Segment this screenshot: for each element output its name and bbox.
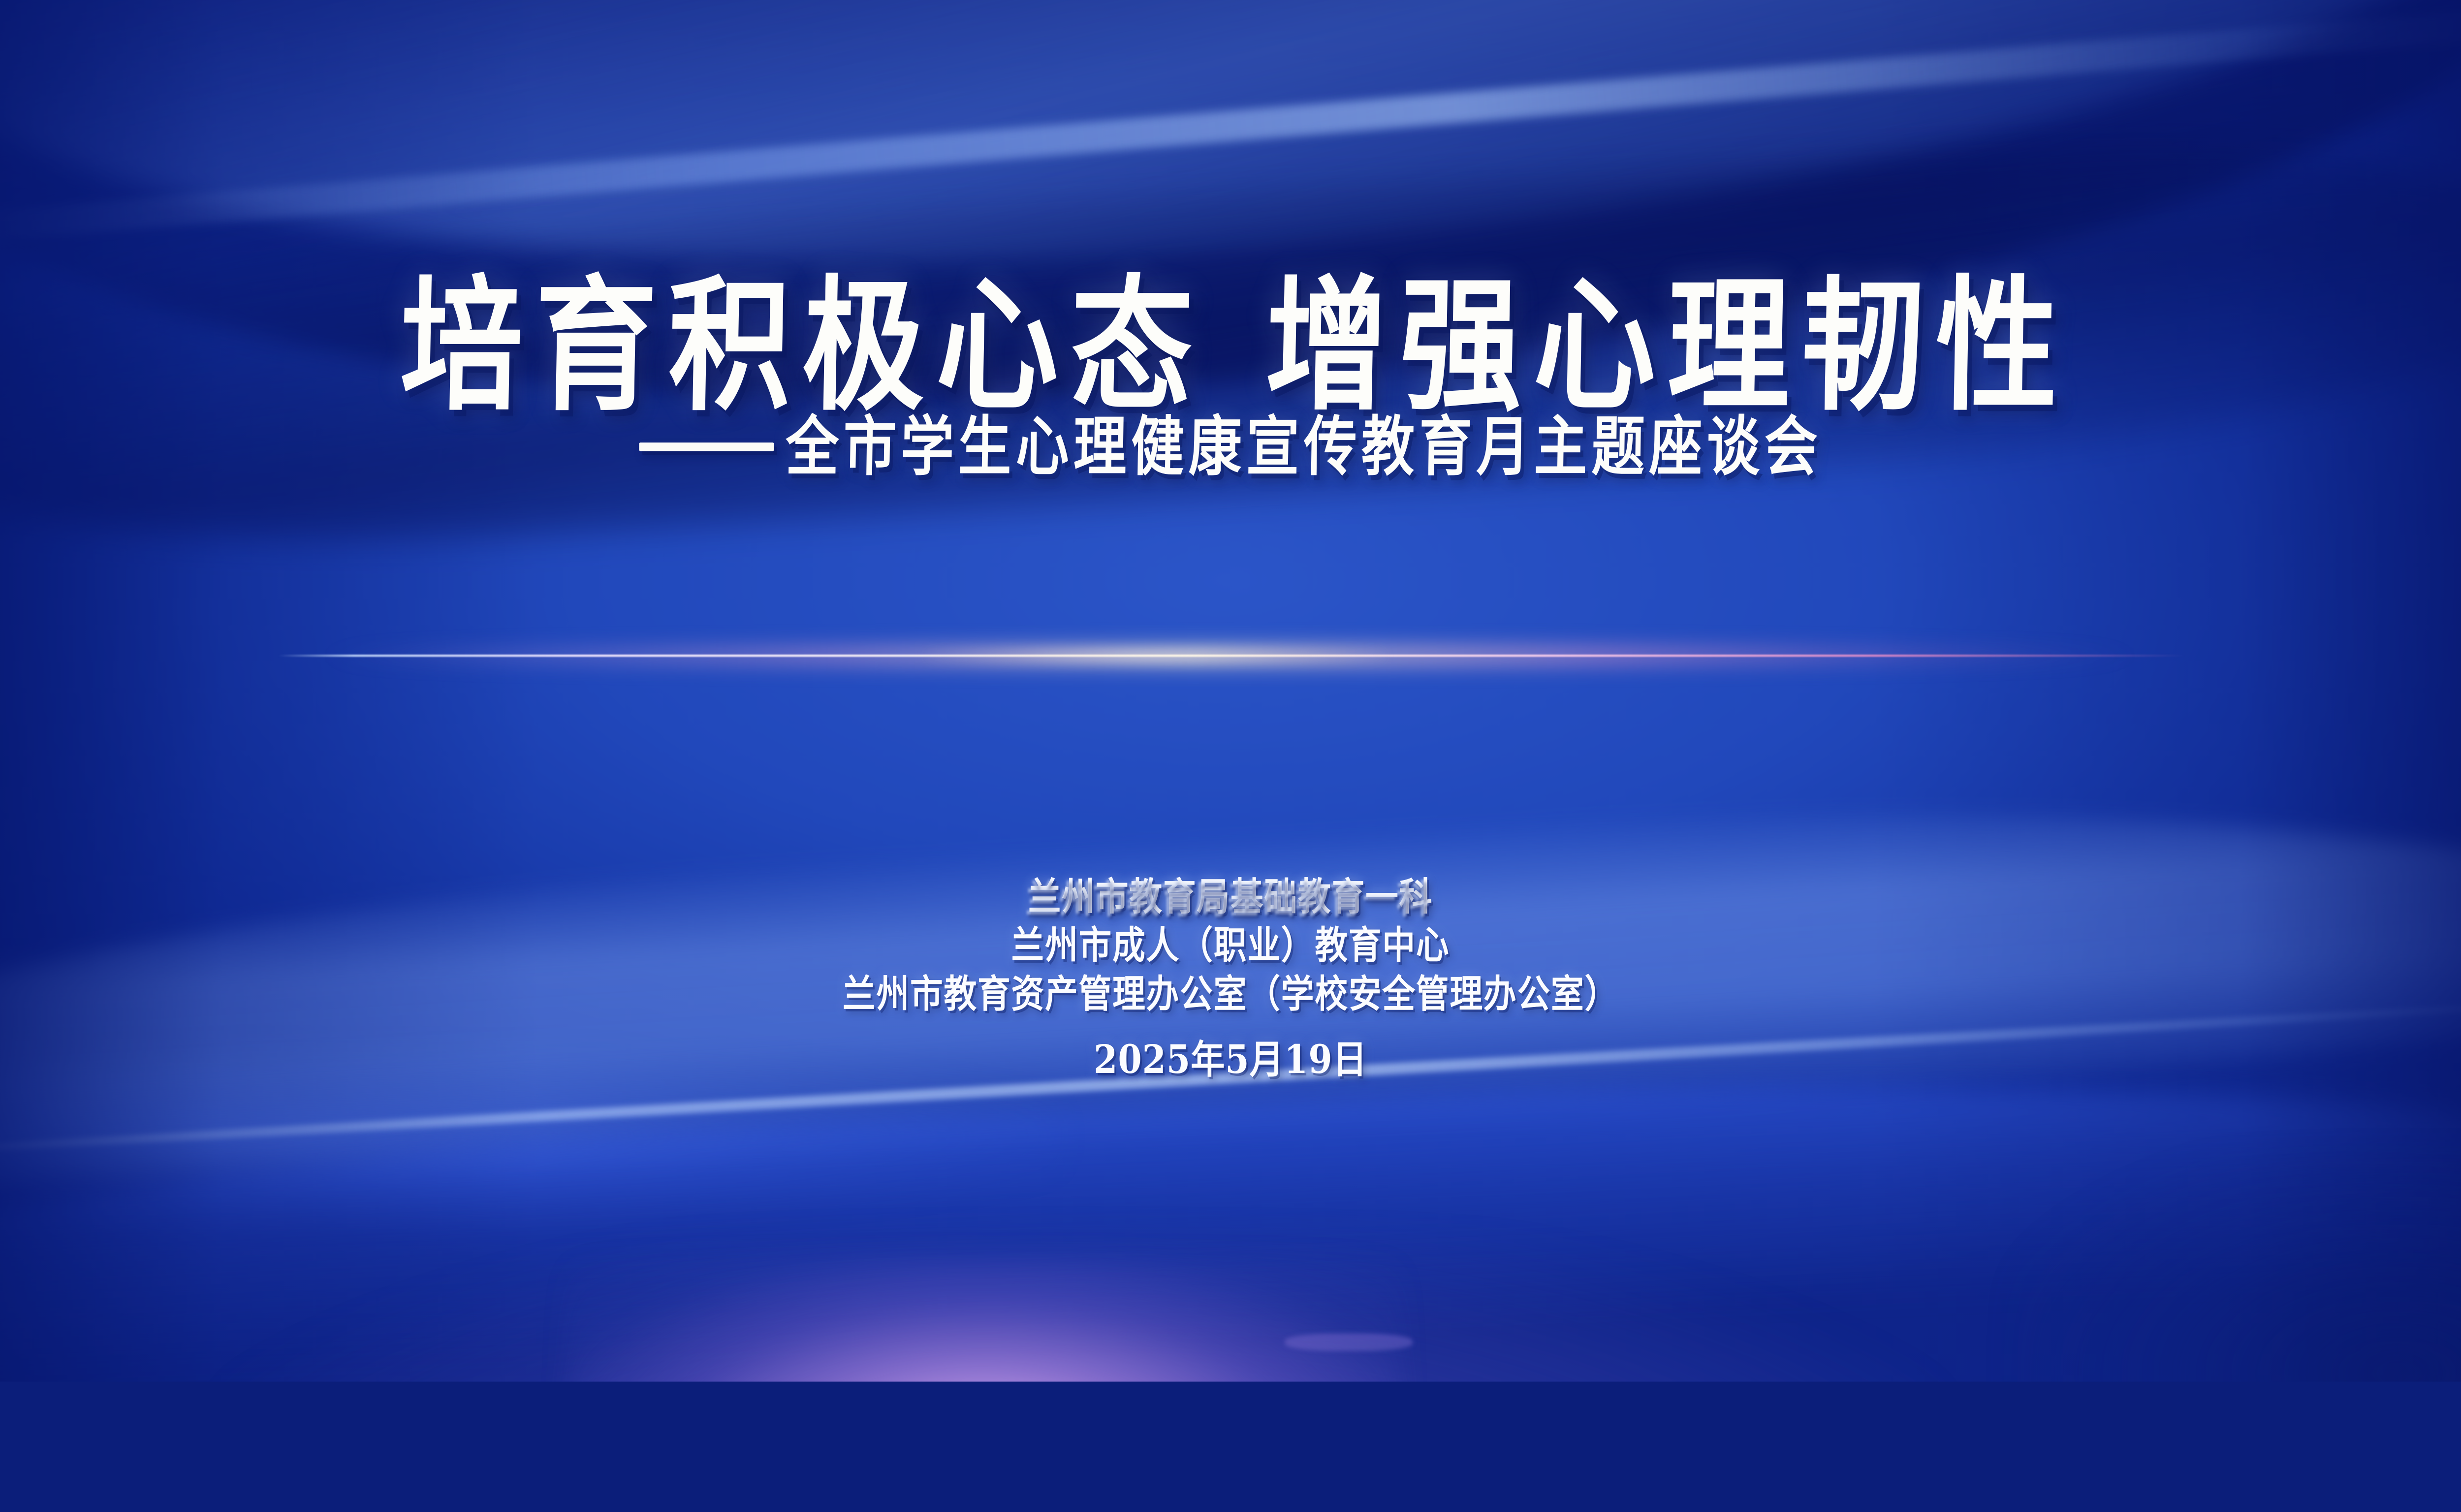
organization-line-1: 兰州市教育局基础教育一科 (1028, 874, 1433, 919)
subtitle-em-dash-icon (639, 442, 774, 451)
title-block: 培育积极心态增强心理韧性 (0, 270, 2461, 399)
organization-line-2: 兰州市成人（职业）教育中心 (1011, 923, 1450, 968)
main-title-part-1: 培育积极心态 (387, 270, 1206, 423)
slide-content: 培育积极心态增强心理韧性 全市学生心理健康宣传教育月主题座谈会 兰州市教育局基础… (0, 0, 2461, 1382)
footer-organizations: 兰州市教育局基础教育一科 兰州市成人（职业）教育中心 兰州市教育资产管理办公室（… (0, 877, 2461, 1080)
slide-date: 2025年5月19日 (1094, 1028, 1367, 1084)
slide-canvas: 培育积极心态增强心理韧性 全市学生心理健康宣传教育月主题座谈会 兰州市教育局基础… (0, 0, 2461, 1382)
main-title-part-2: 增强心理韧性 (1253, 270, 2071, 423)
subtitle-text: 全市学生心理健康宣传教育月主题座谈会 (781, 411, 1822, 482)
organization-line-3: 兰州市教育资产管理办公室（学校安全管理办公室） (843, 972, 1618, 1016)
subtitle-row: 全市学生心理健康宣传教育月主题座谈会 (639, 417, 1822, 476)
